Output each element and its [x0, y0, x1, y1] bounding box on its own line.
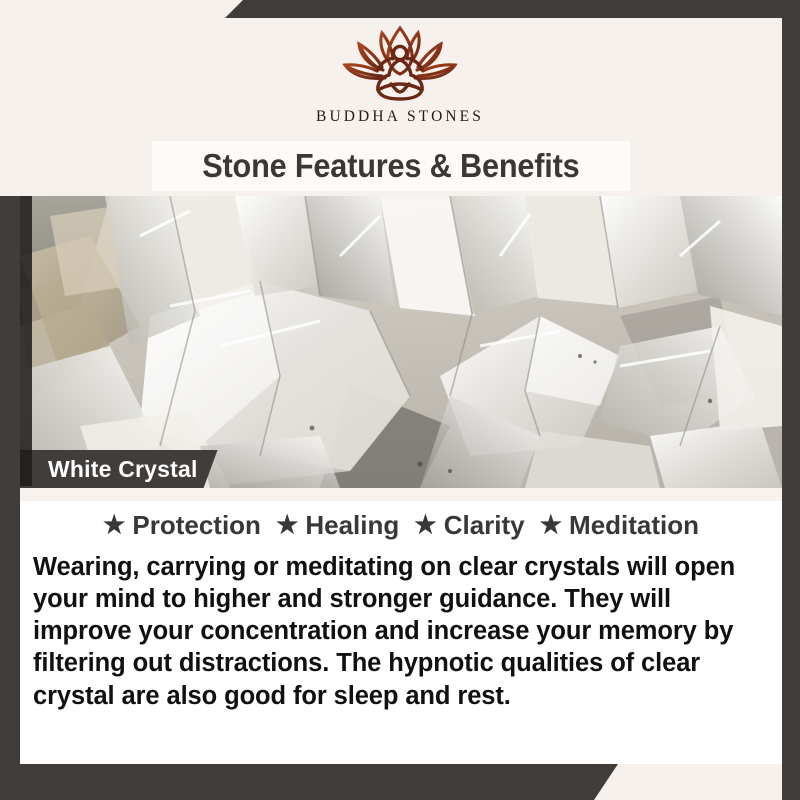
decorative-frame-left-inner: [18, 196, 32, 486]
benefit-item-clarity: ★ Clarity: [414, 510, 524, 541]
crystal-cluster-illustration: [20, 196, 782, 488]
star-icon: ★: [276, 513, 298, 538]
benefit-label: Meditation: [569, 510, 699, 541]
brand-name: BUDDHA STONES: [316, 108, 484, 126]
decorative-frame-bottom: [0, 764, 618, 800]
benefit-label: Clarity: [444, 510, 525, 541]
content-panel: ★ Protection ★ Healing ★ Clarity ★ Medit…: [20, 488, 782, 764]
star-icon: ★: [540, 513, 562, 538]
page-title-band: Stone Features & Benefits: [152, 141, 630, 191]
decorative-frame-top: [225, 0, 800, 18]
benefit-item-healing: ★ Healing: [276, 510, 399, 541]
header: BUDDHA STONES Stone Features & Benefits: [0, 0, 800, 196]
photo-caption-label: White Crystal: [48, 456, 198, 483]
stone-photo: White Crystal: [20, 196, 782, 488]
decorative-frame-right: [782, 0, 800, 800]
benefit-label: Protection: [132, 510, 261, 541]
benefits-list: ★ Protection ★ Healing ★ Clarity ★ Medit…: [20, 510, 782, 541]
decorative-frame-left: [0, 196, 20, 800]
star-icon: ★: [414, 513, 436, 538]
page-title: Stone Features & Benefits: [202, 147, 579, 185]
brand-logo: BUDDHA STONES: [0, 22, 800, 126]
benefit-item-protection: ★ Protection: [103, 510, 261, 541]
star-icon: ★: [103, 513, 125, 538]
benefit-label: Healing: [305, 510, 399, 541]
description-text: Wearing, carrying or meditating on clear…: [33, 551, 771, 712]
lotus-meditation-figure-icon: [325, 22, 475, 104]
benefit-item-meditation: ★ Meditation: [540, 510, 699, 541]
photo-caption: White Crystal: [20, 450, 218, 488]
panel-top-strip: [20, 488, 782, 501]
